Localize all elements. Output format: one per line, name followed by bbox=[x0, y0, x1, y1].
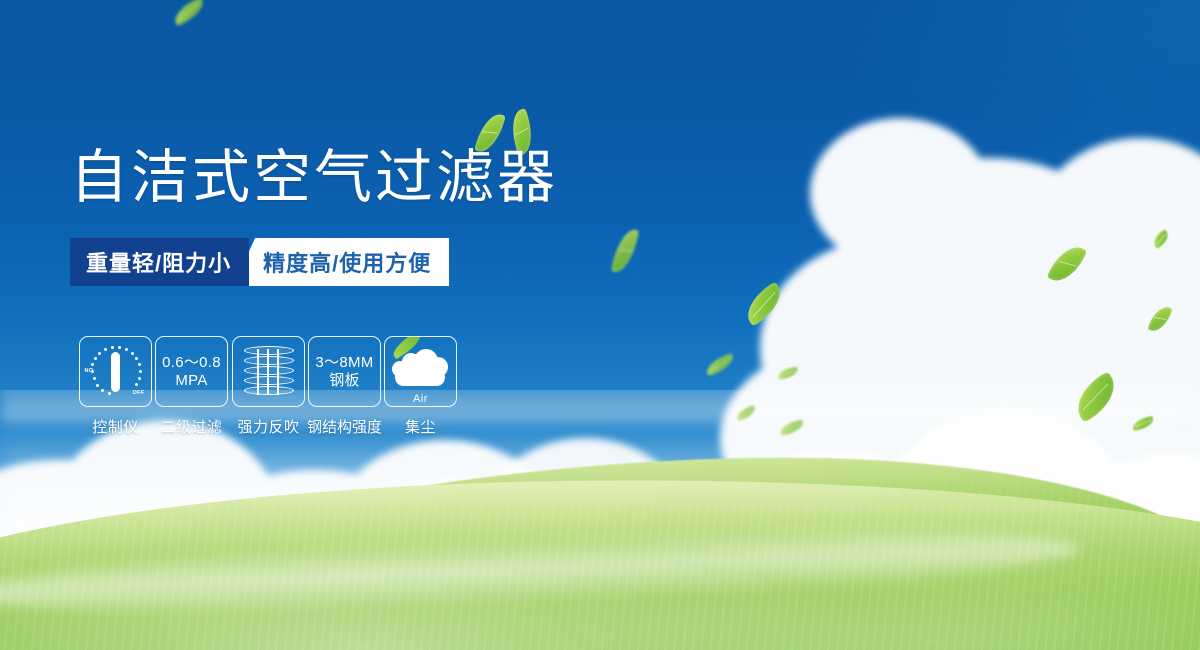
cloud-base bbox=[395, 369, 445, 386]
banner-stage: 自洁式空气过滤器 重量轻/阻力小 精度高/使用方便 bbox=[0, 0, 1200, 650]
pressure-unit: MPA bbox=[162, 372, 221, 390]
dial-needle bbox=[111, 352, 120, 392]
feature-label: 强力反吹 bbox=[237, 416, 299, 437]
dial-label-no: NO bbox=[85, 368, 94, 374]
control-dial-icon: NO OFF bbox=[85, 343, 147, 401]
dial-label-off: OFF bbox=[133, 390, 145, 396]
feature-item-steel[interactable]: 3～8MM 钢板 钢结构强度 bbox=[307, 336, 382, 437]
feature-icon-box: NO OFF bbox=[79, 336, 152, 407]
dust-cloud-icon: Air bbox=[392, 349, 450, 395]
pressure-text-icon: 0.6～0.8 MPA bbox=[162, 354, 221, 390]
feature-label: 二级过滤 bbox=[160, 416, 222, 437]
feature-icon-box: 0.6～0.8 MPA bbox=[155, 336, 228, 407]
tag-bar: 重量轻/阻力小 精度高/使用方便 bbox=[70, 238, 449, 286]
tag-weight-resistance: 重量轻/阻力小 bbox=[70, 238, 249, 286]
pressure-range: 0.6～0.8 bbox=[162, 354, 221, 372]
feature-label: 控制仪 bbox=[92, 416, 139, 437]
feature-item-control[interactable]: NO OFF 控制仪 bbox=[78, 336, 153, 437]
tag-precision-usability: 精度高/使用方便 bbox=[233, 238, 449, 286]
feature-icon-box: 3～8MM 钢板 bbox=[308, 336, 381, 407]
steel-plate-text-icon: 3～8MM 钢板 bbox=[315, 354, 373, 390]
feature-item-pressure[interactable]: 0.6～0.8 MPA 二级过滤 bbox=[154, 336, 229, 437]
steel-material: 钢板 bbox=[315, 372, 373, 390]
grass-highlight bbox=[0, 480, 1200, 650]
page-title: 自洁式空气过滤器 bbox=[70, 144, 558, 210]
steel-thickness: 3～8MM bbox=[315, 354, 373, 372]
feature-label: 集尘 bbox=[405, 416, 436, 437]
filter-stack-icon bbox=[244, 346, 294, 398]
feature-item-dust[interactable]: Air 集尘 bbox=[383, 336, 458, 437]
feature-item-blowback[interactable]: 强力反吹 bbox=[231, 336, 306, 437]
cloud-air-label: Air bbox=[392, 393, 450, 405]
feature-icon-box bbox=[232, 336, 305, 407]
feature-list: NO OFF 控制仪 0.6～0.8 MPA 二级过滤 bbox=[78, 336, 459, 437]
feature-label: 钢结构强度 bbox=[307, 416, 382, 437]
feature-icon-box: Air bbox=[384, 336, 457, 407]
